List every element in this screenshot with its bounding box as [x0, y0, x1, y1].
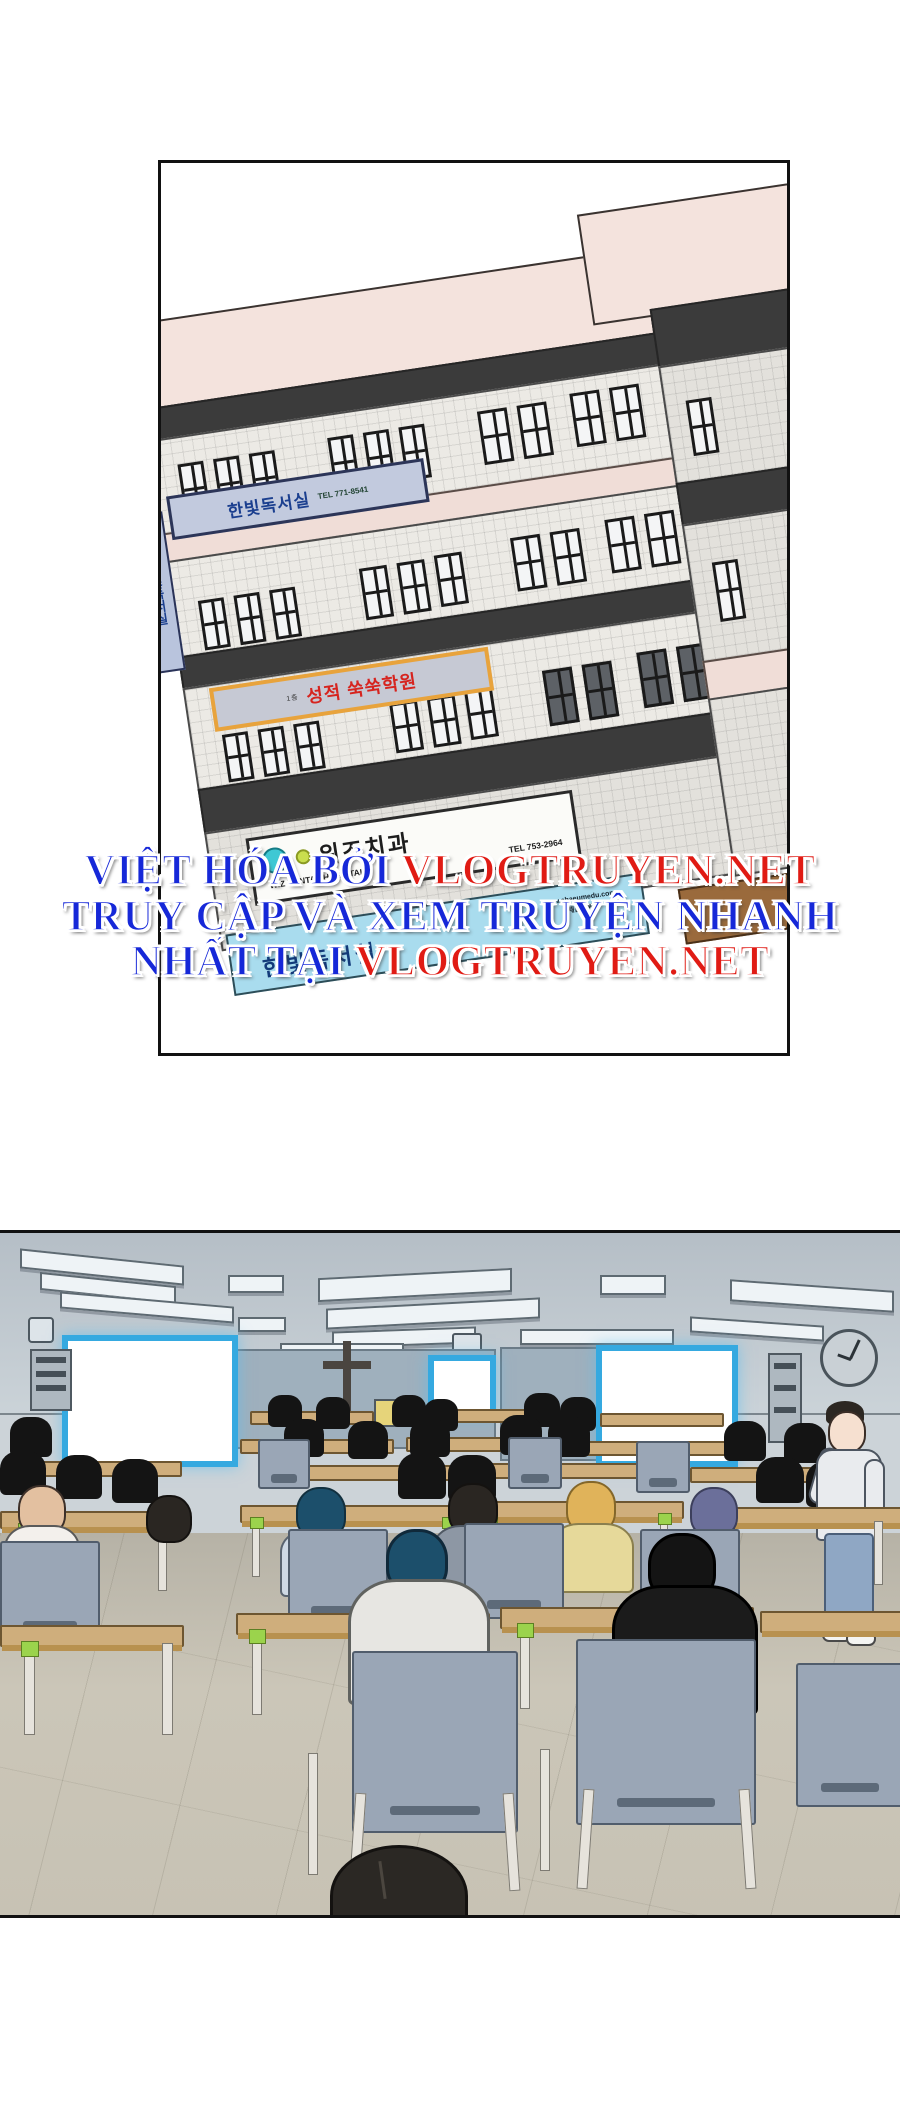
- student-silhouette: [56, 1455, 102, 1499]
- building-exterior-panel: 한빛독서실 TEL 771-8541 한빛독서실 1층 성적 쑥쑥학원 위즈치과…: [158, 160, 790, 1056]
- student-head: [146, 1495, 192, 1543]
- ceiling-light: [600, 1275, 666, 1295]
- chair: [796, 1663, 900, 1807]
- ceiling-light: [520, 1329, 674, 1345]
- student-silhouette: [112, 1459, 158, 1503]
- ceiling-light: [228, 1275, 284, 1293]
- sign-hagwon-korean: 성적 쑥쑥학원: [305, 667, 419, 709]
- comic-page: 한빛독서실 TEL 771-8541 한빛독서실 1층 성적 쑥쑥학원 위즈치과…: [0, 0, 900, 2128]
- chair-leg: [308, 1753, 318, 1875]
- desk-leg-cap: [517, 1623, 534, 1638]
- desk: [760, 1611, 900, 1633]
- sign-cyan-banner-url: www.chaeumedu.com 채움학원: [542, 889, 618, 921]
- speaker-icon: [28, 1317, 54, 1343]
- lecture-hall-panel: [0, 1230, 900, 1918]
- student-silhouette: [398, 1453, 446, 1499]
- wall-clock-icon: [820, 1329, 878, 1387]
- projector-screen-left: [62, 1335, 238, 1467]
- desk-leg: [874, 1521, 883, 1585]
- green-dot-icon: [295, 848, 312, 865]
- cyan-sub-text: 채움학원: [568, 903, 595, 914]
- sign-hagwon-mini: 1층: [286, 692, 300, 704]
- sign-vertical-banner-korean: 한빛독서실: [158, 559, 171, 626]
- ceiling-light: [238, 1317, 286, 1332]
- sign-study-room-korean: 한빛독서실: [226, 485, 312, 522]
- student-silhouette: [316, 1397, 350, 1429]
- sign-cyan-banner-korean: 한빛독서실: [260, 934, 380, 983]
- teal-dot-icon: [260, 846, 290, 876]
- desk-leg-cap: [250, 1517, 264, 1529]
- chair: [576, 1639, 756, 1825]
- desk-leg: [162, 1643, 173, 1735]
- student-silhouette: [410, 1419, 450, 1457]
- building-structure: 한빛독서실 TEL 771-8541 한빛독서실 1층 성적 쑥쑥학원 위즈치과…: [158, 160, 790, 1056]
- student-silhouette: [756, 1457, 804, 1503]
- chair: [636, 1441, 690, 1493]
- student-head: [828, 1411, 866, 1453]
- student-silhouette: [724, 1421, 766, 1461]
- chair: [352, 1651, 518, 1833]
- rear-cabinet: [30, 1349, 72, 1411]
- sign-study-room-tel: TEL 771-8541: [317, 484, 369, 500]
- chair: [508, 1437, 562, 1489]
- desk-leg-cap: [21, 1641, 39, 1657]
- desk: [600, 1413, 724, 1427]
- desk-leg-cap: [658, 1513, 672, 1525]
- chair-leg: [540, 1749, 550, 1871]
- student-silhouette: [348, 1421, 388, 1459]
- desk-leg-cap: [249, 1629, 266, 1644]
- desk: [240, 1505, 464, 1523]
- chair: [258, 1439, 310, 1489]
